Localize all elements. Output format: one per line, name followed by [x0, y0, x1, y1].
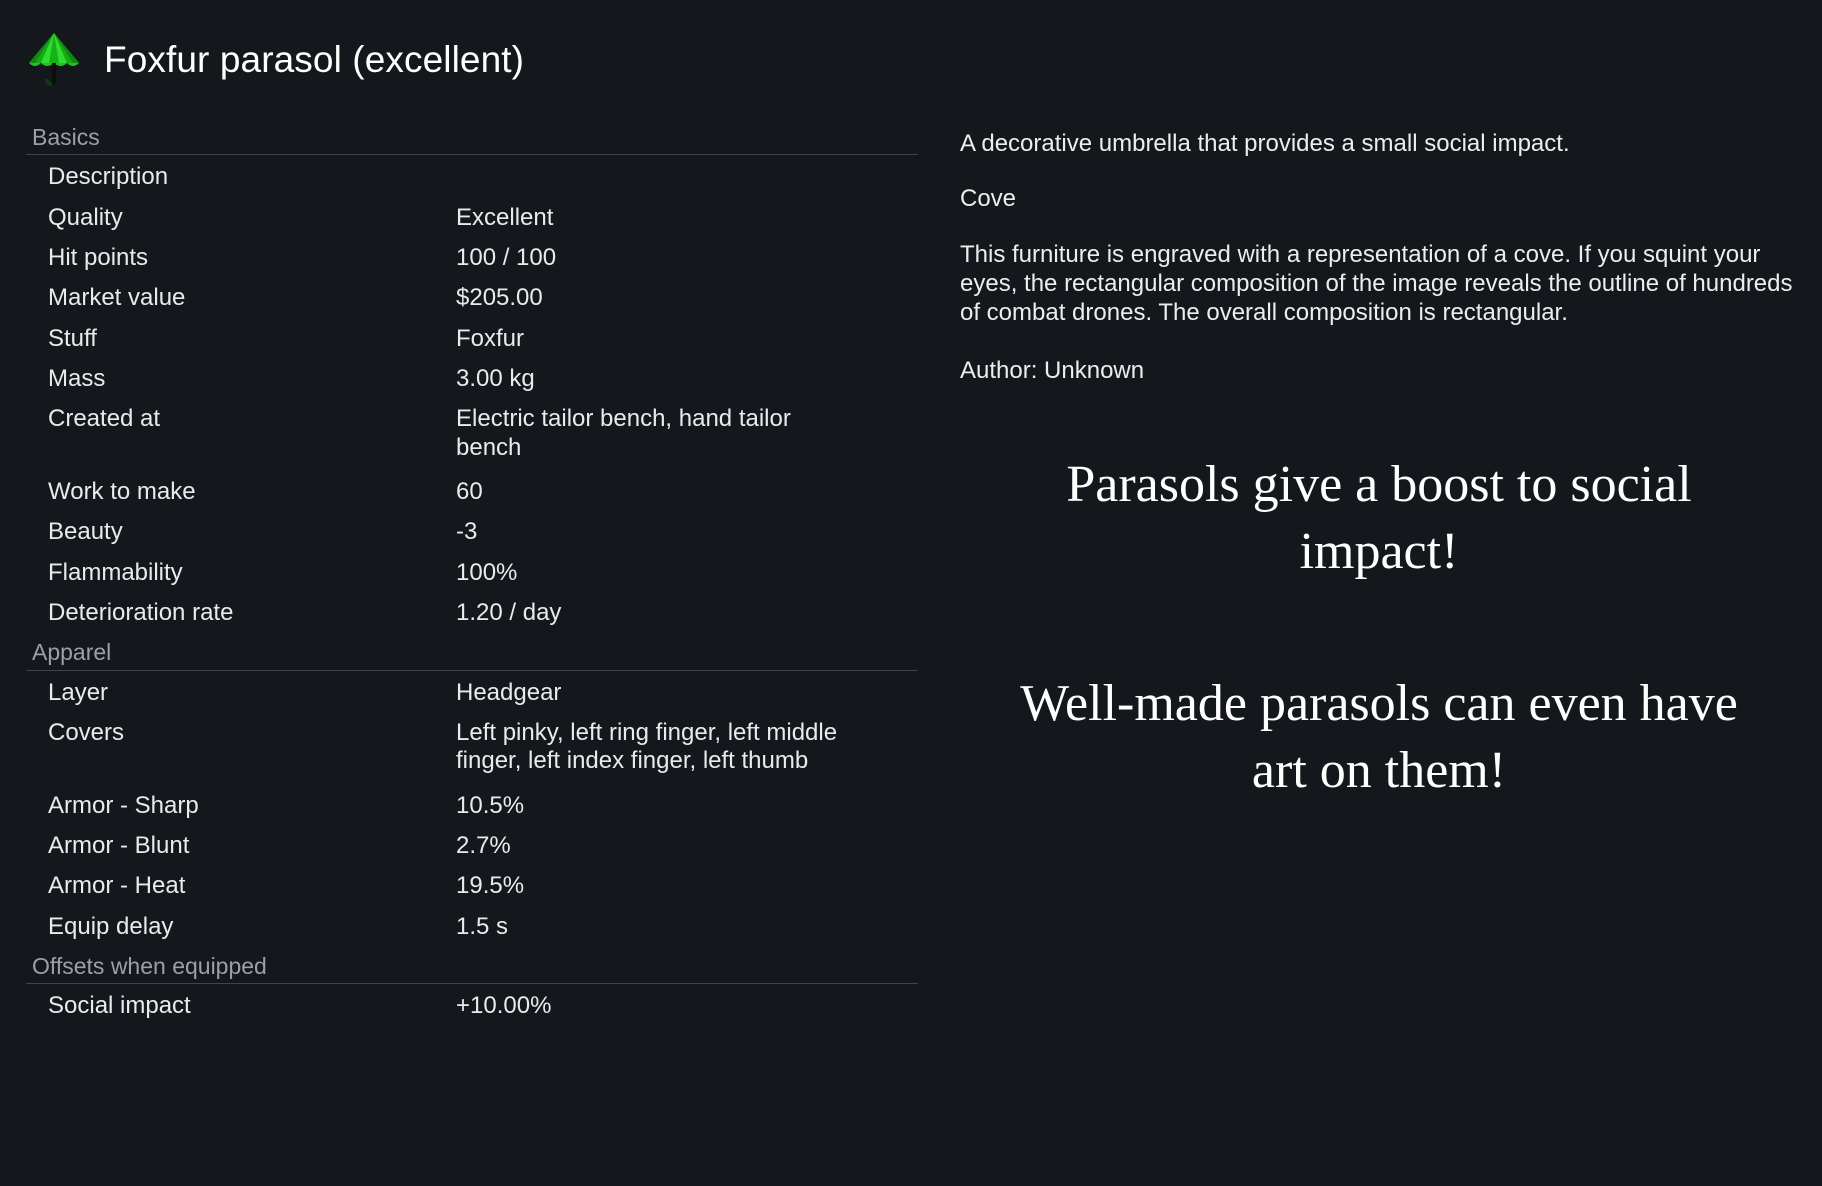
stat-label: Covers [26, 719, 456, 747]
stat-label: Created at [26, 405, 456, 433]
section-title: Offsets when equipped [26, 947, 920, 983]
description-block: A decorative umbrella that provides a sm… [960, 130, 1798, 386]
stat-value: +10.00% [456, 992, 846, 1020]
section-divider [26, 670, 918, 671]
table-row: Armor - Heat 19.5% [26, 866, 920, 906]
table-row: Layer Headgear [26, 673, 920, 713]
stat-value: 60 [456, 478, 846, 506]
tip-text: Well-made parasols can even have art on … [960, 671, 1798, 804]
stat-value: $205.00 [456, 284, 846, 312]
section-offsets-when-equipped: Offsets when equipped Social impact +10.… [26, 947, 920, 1027]
table-row: Social impact +10.00% [26, 986, 920, 1026]
stat-label: Hit points [26, 244, 456, 272]
stat-value: 10.5% [456, 792, 846, 820]
stat-value: Foxfur [456, 325, 846, 353]
table-row: Created at Electric tailor bench, hand t… [26, 399, 920, 472]
section-divider [26, 154, 918, 155]
stat-label: Flammability [26, 559, 456, 587]
stat-label: Stuff [26, 325, 456, 353]
section-apparel: Apparel Layer Headgear Covers Left pinky… [26, 633, 920, 947]
table-row: Market value $205.00 [26, 278, 920, 318]
stat-value: 3.00 kg [456, 365, 846, 393]
section-title: Basics [26, 118, 920, 154]
tips-block: Parasols give a boost to social impact! … [960, 452, 1798, 804]
art-description: This furniture is engraved with a repres… [960, 240, 1798, 328]
stat-value: Left pinky, left ring finger, left middl… [456, 719, 846, 776]
stat-label: Armor - Blunt [26, 832, 456, 860]
item-header: Foxfur parasol (excellent) [0, 0, 1822, 100]
table-row: Armor - Sharp 10.5% [26, 786, 920, 826]
table-row: Mass 3.00 kg [26, 359, 920, 399]
stat-value: 1.20 / day [456, 599, 846, 627]
table-row: Beauty -3 [26, 512, 920, 552]
stat-value: 100% [456, 559, 846, 587]
section-title: Apparel [26, 633, 920, 669]
art-title: Cove [960, 185, 1798, 214]
parasol-icon [26, 30, 82, 92]
stat-value: 19.5% [456, 872, 846, 900]
stat-label: Beauty [26, 518, 456, 546]
stat-label: Armor - Heat [26, 872, 456, 900]
stat-label: Social impact [26, 992, 456, 1020]
table-row: Equip delay 1.5 s [26, 907, 920, 947]
page-title: Foxfur parasol (excellent) [104, 41, 524, 82]
stat-label: Layer [26, 679, 456, 707]
stat-label: Description [26, 163, 456, 191]
stat-label: Armor - Sharp [26, 792, 456, 820]
section-divider [26, 983, 918, 984]
section-basics: Basics Description Quality Excellent Hit… [26, 118, 920, 633]
table-row: Flammability 100% [26, 553, 920, 593]
table-row: Stuff Foxfur [26, 319, 920, 359]
table-row: Deterioration rate 1.20 / day [26, 593, 920, 633]
stat-label: Mass [26, 365, 456, 393]
stat-value: 1.5 s [456, 913, 846, 941]
stat-label: Equip delay [26, 913, 456, 941]
table-row: Description [26, 157, 920, 197]
stat-value: Headgear [456, 679, 846, 707]
stat-value: Electric tailor bench, hand tailor bench [456, 405, 846, 462]
stat-label: Quality [26, 204, 456, 232]
stats-column: Basics Description Quality Excellent Hit… [0, 100, 920, 1027]
stat-label: Deterioration rate [26, 599, 456, 627]
tip-text: Parasols give a boost to social impact! [960, 452, 1798, 585]
stat-value: 2.7% [456, 832, 846, 860]
stat-value: Excellent [456, 204, 846, 232]
description-summary: A decorative umbrella that provides a sm… [960, 130, 1798, 159]
table-row: Work to make 60 [26, 472, 920, 512]
stat-label: Work to make [26, 478, 456, 506]
art-author: Author: Unknown [960, 357, 1798, 386]
description-column: A decorative umbrella that provides a sm… [920, 100, 1822, 804]
stat-value: -3 [456, 518, 846, 546]
table-row: Quality Excellent [26, 198, 920, 238]
table-row: Armor - Blunt 2.7% [26, 826, 920, 866]
table-row: Hit points 100 / 100 [26, 238, 920, 278]
info-card-body: Basics Description Quality Excellent Hit… [0, 100, 1822, 1027]
table-row: Covers Left pinky, left ring finger, lef… [26, 713, 920, 786]
stat-label: Market value [26, 284, 456, 312]
stat-value: 100 / 100 [456, 244, 846, 272]
